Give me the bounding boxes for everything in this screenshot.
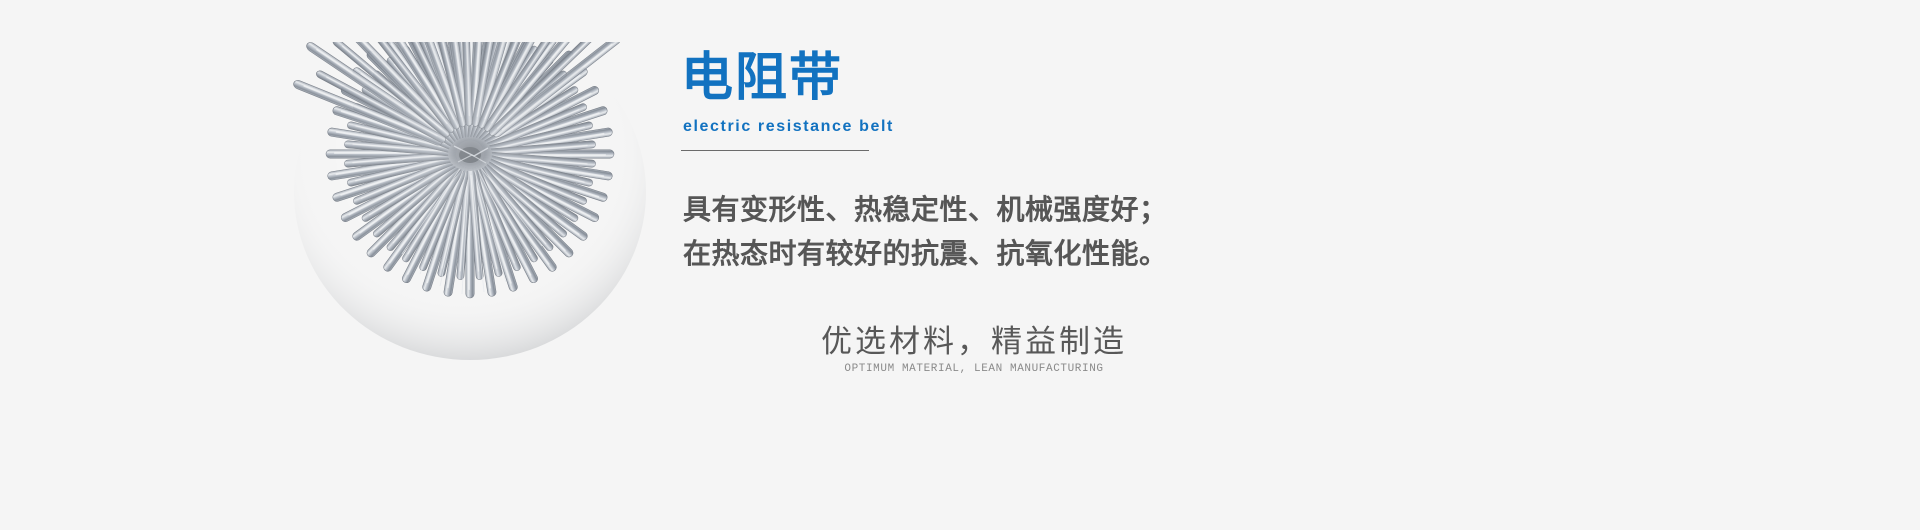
slogan-block: 优选材料，精益制造 OPTIMUM MATERIAL, LEAN MANUFAC… [774,322,1174,375]
page-title: 电阻带 [681,48,843,108]
page-subtitle: electric resistance belt [683,118,894,136]
description-line-2: 在热态时有较好的抗震、抗氧化性能。 [683,232,1303,276]
product-image [292,42,648,362]
banner-content: 电阻带 electric resistance belt 具有变形性、热稳定性、… [681,0,1581,530]
title-divider [681,150,869,151]
resistance-belt-coil-graphic [292,42,648,362]
product-description: 具有变形性、热稳定性、机械强度好； 在热态时有较好的抗震、抗氧化性能。 [683,188,1303,276]
slogan-chinese: 优选材料，精益制造 [774,322,1174,362]
description-line-1: 具有变形性、热稳定性、机械强度好； [683,188,1303,232]
product-banner: 电阻带 electric resistance belt 具有变形性、热稳定性、… [0,0,1920,530]
slogan-english: OPTIMUM MATERIAL, LEAN MANUFACTURING [774,363,1174,375]
